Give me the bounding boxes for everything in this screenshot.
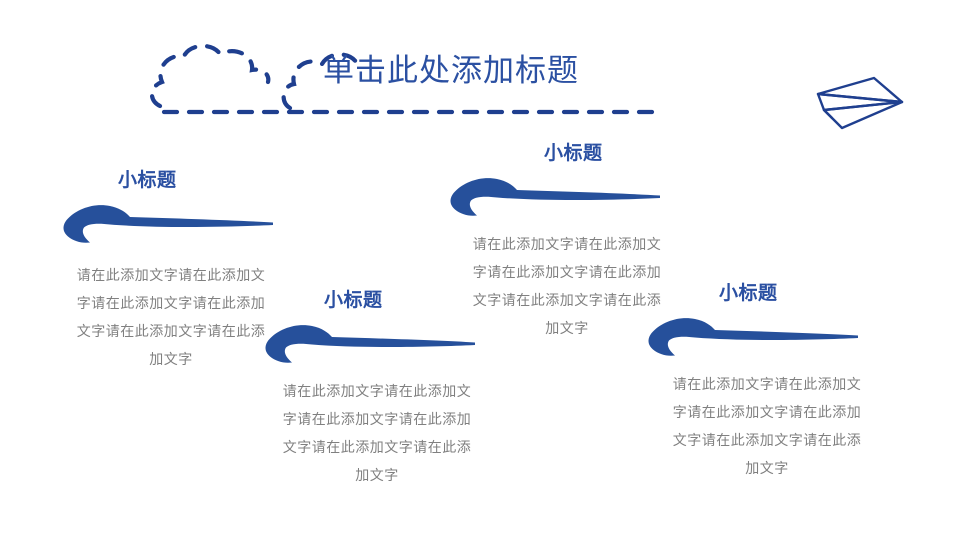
block-heading: 小标题: [324, 285, 383, 312]
title-group: 单击此处添加标题: [140, 28, 700, 118]
arrow-left-icon: [262, 321, 478, 367]
block-heading: 小标题: [118, 165, 177, 192]
slide-canvas: 单击此处添加标题 小标题 请在此添加文字请在此添加文字请在此添加文字请在此添加文…: [0, 0, 960, 540]
paper-plane-icon: [812, 72, 908, 134]
arrow-left-icon: [645, 314, 861, 360]
block-body-text: 请在此添加文字请在此添加文字请在此添加文字请在此添加文字请在此添加文字请在此添加…: [469, 230, 665, 342]
block-body-text: 请在此添加文字请在此添加文字请在此添加文字请在此添加文字请在此添加文字请在此添加…: [73, 261, 269, 373]
block-body-text: 请在此添加文字请在此添加文字请在此添加文字请在此添加文字请在此添加文字请在此添加…: [669, 370, 865, 482]
arrow-left-icon: [60, 201, 276, 247]
arrow-left-icon: [447, 174, 663, 220]
block-body-text: 请在此添加文字请在此添加文字请在此添加文字请在此添加文字请在此添加文字请在此添加…: [279, 377, 475, 489]
block-heading: 小标题: [544, 138, 603, 165]
block-heading: 小标题: [719, 278, 778, 305]
page-title: 单击此处添加标题: [323, 45, 579, 90]
